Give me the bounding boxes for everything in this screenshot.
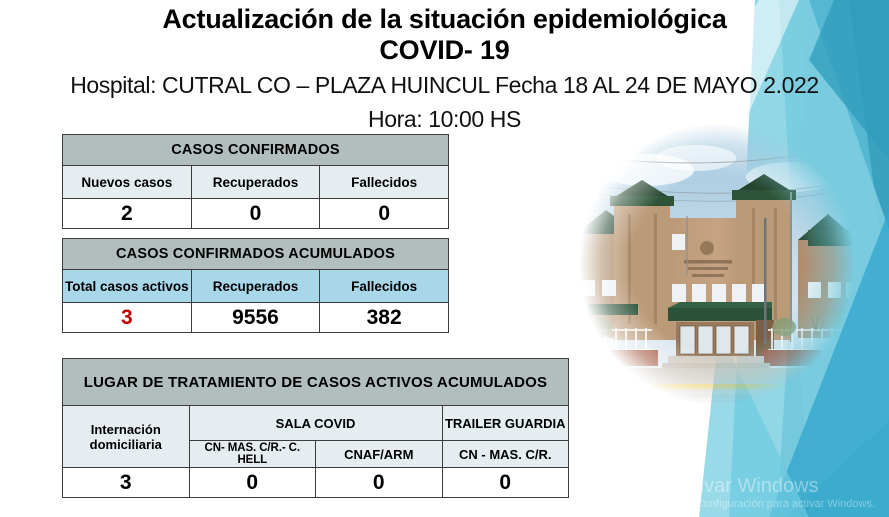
column-header-cnaf-arm: CNAF/ARM [316,441,443,468]
table-casos-confirmados-acumulados: CASOS CONFIRMADOS ACUMULADOS Total casos… [62,238,449,333]
page-subtitle-line2: Hora: 10:00 HS [0,104,889,134]
value-fallecidos-acum: 382 [320,303,449,333]
table-title-casos-acumulados: CASOS CONFIRMADOS ACUMULADOS [63,239,449,270]
table-title-casos-confirmados: CASOS CONFIRMADOS [63,135,449,166]
column-header-nuevos-casos: Nuevos casos [63,166,192,199]
page-subtitle-line1: Hospital: CUTRAL CO – PLAZA HUINCUL Fech… [0,70,889,100]
column-header-recuperados: Recuperados [191,166,320,199]
table-row: Internación domiciliaria SALA COVID TRAI… [63,406,569,441]
activate-windows-watermark: Activar Windows Ve a Configuración para … [671,474,875,511]
watermark-line2: Ve a Configuración para activar Windows. [671,498,875,511]
value-nuevos-casos: 2 [63,199,192,229]
table-lugar-de-tratamiento: LUGAR DE TRATAMIENTO DE CASOS ACTIVOS AC… [62,358,569,498]
column-header-fallecidos-acum: Fallecidos [320,270,449,303]
table-title-lugar-tratamiento: LUGAR DE TRATAMIENTO DE CASOS ACTIVOS AC… [63,359,569,406]
value-internacion-domiciliaria: 3 [63,468,190,498]
column-header-trailer-guardia: TRAILER GUARDIA [442,406,569,441]
table-row: 3 0 0 0 [63,468,569,498]
value-recuperados: 0 [191,199,320,229]
table-row: LUGAR DE TRATAMIENTO DE CASOS ACTIVOS AC… [63,359,569,406]
watermark-line1: Activar Windows [671,474,875,498]
value-recuperados-acum: 9556 [191,303,320,333]
column-header-internacion-domiciliaria: Internación domiciliaria [63,406,190,468]
column-header-cn-mas-cr-c-hell: CN- MAS. C/R.- C. HELL [189,441,316,468]
page-title-line1: Actualización de la situación epidemioló… [0,4,889,35]
column-header-fallecidos: Fallecidos [320,166,449,199]
value-total-casos-activos: 3 [63,303,192,333]
value-cn-mas-cr-c-hell: 0 [189,468,316,498]
slide-canvas: Actualización de la situación epidemioló… [0,0,889,517]
table-row: CASOS CONFIRMADOS [63,135,449,166]
column-header-cn-mas-cr: CN - MAS. C/R. [442,441,569,468]
title-block: Actualización de la situación epidemioló… [0,4,889,134]
hospital-photo [576,122,858,406]
column-header-sala-covid: SALA COVID [189,406,442,441]
page-title-line2: COVID- 19 [0,35,889,66]
table-row: Nuevos casos Recuperados Fallecidos [63,166,449,199]
table-casos-confirmados: CASOS CONFIRMADOS Nuevos casos Recuperad… [62,134,449,229]
value-cnaf-arm: 0 [316,468,443,498]
table-row: CASOS CONFIRMADOS ACUMULADOS [63,239,449,270]
table-row: 2 0 0 [63,199,449,229]
table-row: Total casos activos Recuperados Fallecid… [63,270,449,303]
value-fallecidos: 0 [320,199,449,229]
column-header-recuperados-acum: Recuperados [191,270,320,303]
value-cn-mas-cr: 0 [442,468,569,498]
column-header-total-casos-activos: Total casos activos [63,270,192,303]
table-row: 3 9556 382 [63,303,449,333]
